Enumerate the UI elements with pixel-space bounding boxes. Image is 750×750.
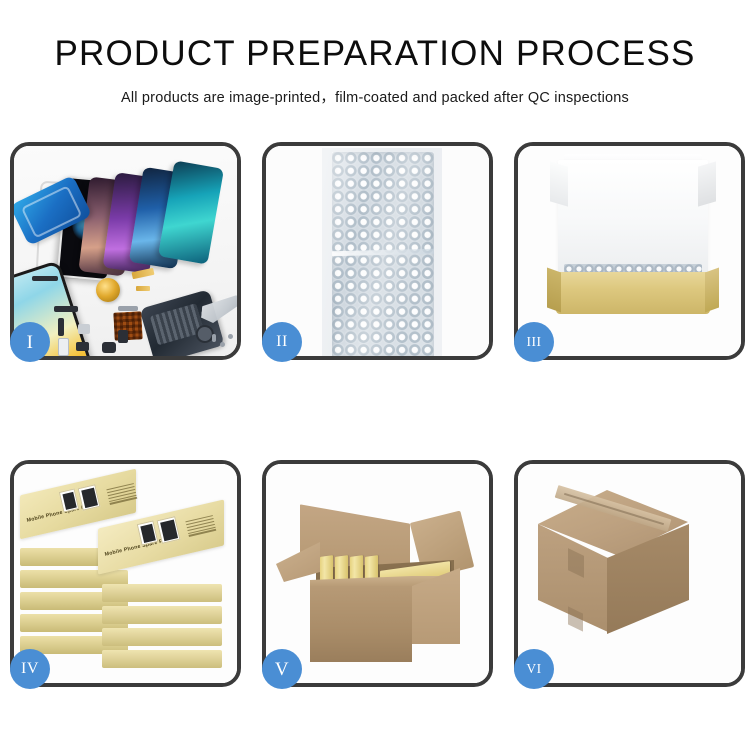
step-badge-4: IV xyxy=(10,649,50,689)
step-numeral: III xyxy=(527,335,542,349)
step-badge-3: III xyxy=(514,322,554,362)
part-icon xyxy=(58,318,64,336)
stacked-boxes-illustration: Mobile Phone Spare Parts Mobile Phone Sp… xyxy=(14,464,237,683)
flex-cable-icon xyxy=(136,286,150,291)
step-panel-1: I xyxy=(10,142,241,360)
step-image-1 xyxy=(14,146,237,356)
spare-parts-box-icon xyxy=(102,584,222,602)
step-numeral: V xyxy=(275,660,289,679)
step-panel-4: Mobile Phone Spare Parts Mobile Phone Sp… xyxy=(10,460,241,687)
screw-icon xyxy=(212,334,216,342)
part-icon xyxy=(76,342,89,351)
part-icon xyxy=(54,306,78,312)
sealed-carton-illustration xyxy=(518,464,741,683)
step-image-6 xyxy=(518,464,741,683)
white-box-lid-icon xyxy=(558,160,708,274)
screw-icon xyxy=(228,334,233,339)
part-icon xyxy=(58,338,69,356)
step-badge-5: V xyxy=(262,649,302,689)
open-box-illustration xyxy=(518,146,741,356)
step-numeral: I xyxy=(27,333,34,352)
header: PRODUCT PREPARATION PROCESS All products… xyxy=(0,0,750,107)
step-panel-2: II xyxy=(262,142,493,360)
kraft-box-tray-icon xyxy=(556,272,710,314)
carton-front-face xyxy=(310,586,412,662)
page-title: PRODUCT PREPARATION PROCESS xyxy=(0,36,750,73)
spare-parts-box-icon xyxy=(102,606,222,624)
step-badge-2: II xyxy=(262,322,302,362)
part-icon xyxy=(118,306,138,311)
step-image-2 xyxy=(266,146,489,356)
bubble-wrap-illustration xyxy=(266,146,489,356)
step-numeral: VI xyxy=(526,662,541,676)
spare-parts-box-icon xyxy=(102,650,222,668)
carton-left-flap xyxy=(276,542,320,582)
step-panel-6: VI xyxy=(514,460,745,687)
phone-parts-illustration xyxy=(14,146,237,356)
step-panel-3: III xyxy=(514,142,745,360)
part-icon xyxy=(78,324,90,334)
phone-back-housing-icon xyxy=(139,289,224,356)
step-numeral: II xyxy=(276,334,288,350)
step-image-4: Mobile Phone Spare Parts Mobile Phone Sp… xyxy=(14,464,237,683)
screw-icon xyxy=(220,342,225,347)
step-badge-1: I xyxy=(10,322,50,362)
step-image-3 xyxy=(518,146,741,356)
gold-coil-icon xyxy=(96,278,120,302)
part-icon xyxy=(32,276,58,281)
page-subtitle: All products are image-printed，film-coat… xyxy=(0,86,750,107)
step-numeral: IV xyxy=(21,661,39,677)
part-icon xyxy=(102,342,116,353)
page-root: PRODUCT PREPARATION PROCESS All products… xyxy=(0,0,750,750)
step-image-5 xyxy=(266,464,489,683)
step-panel-5: V xyxy=(262,460,493,687)
open-carton-illustration xyxy=(266,464,489,683)
process-step-grid: I II III xyxy=(10,142,745,687)
spare-parts-box-icon xyxy=(102,628,222,646)
part-icon xyxy=(118,330,128,343)
step-badge-6: VI xyxy=(514,649,554,689)
